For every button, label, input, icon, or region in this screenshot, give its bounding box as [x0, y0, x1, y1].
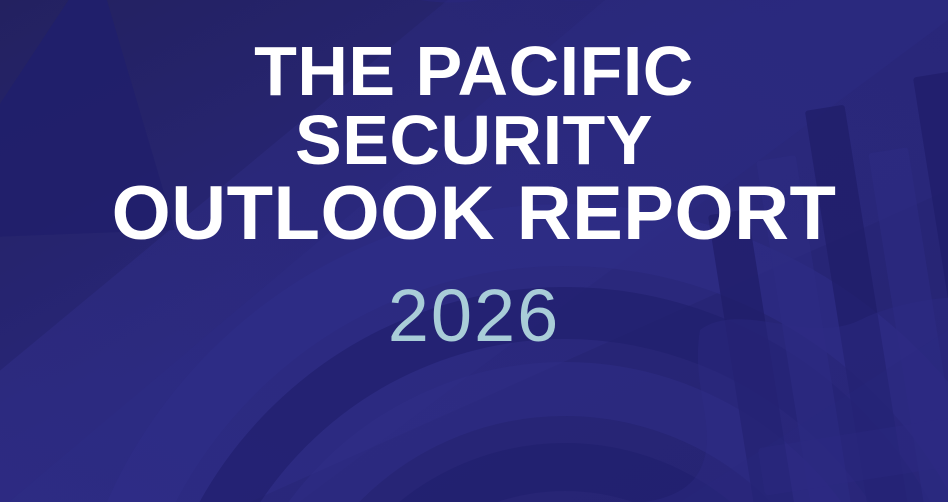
report-cover: THE PACIFIC SECURITY OUTLOOK REPORT 2026 [0, 0, 948, 502]
background-decoration [0, 0, 948, 502]
